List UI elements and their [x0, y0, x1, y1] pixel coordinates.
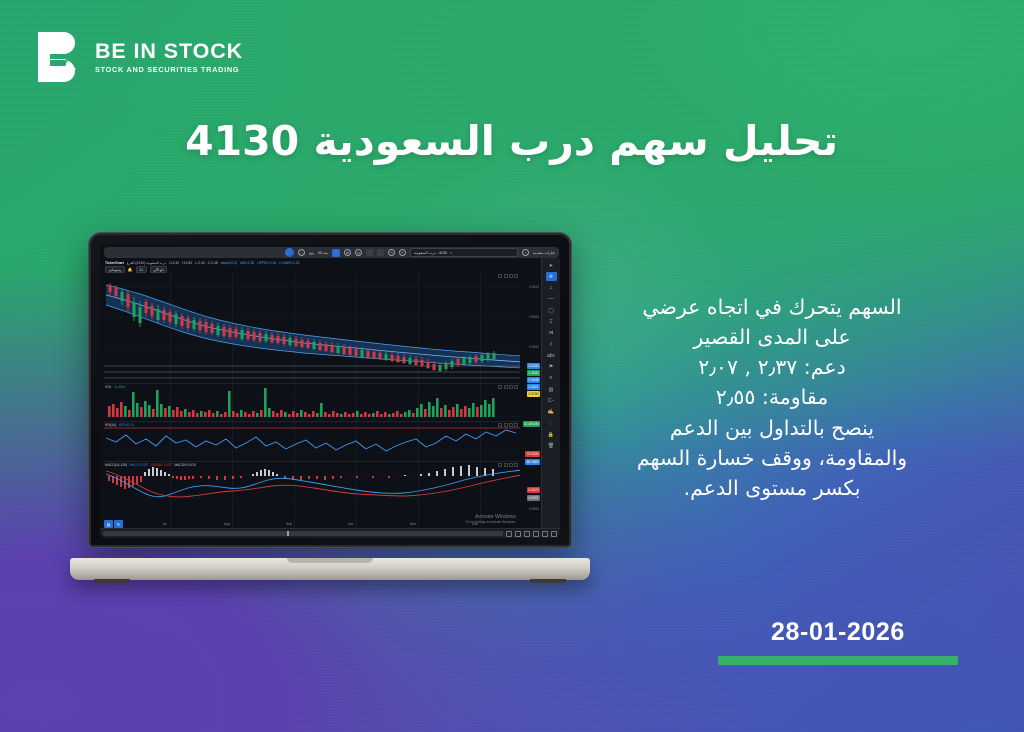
macd-pane-buttons[interactable] — [498, 463, 518, 467]
settings-icon[interactable]: ⚙ — [344, 249, 351, 256]
legend-chip-2[interactable]: رسوماتي — [105, 266, 125, 273]
magnifier-icon[interactable]: ⌕ — [450, 251, 452, 255]
legend-indicator: basis(20,2) — [221, 261, 238, 265]
magnet-icon[interactable]: C⁃ — [546, 397, 557, 406]
analysis-line-7: بكسر مستوى الدعم. — [572, 473, 972, 503]
brand-name: BE IN STOCK — [95, 41, 243, 63]
horizontal-line-icon[interactable]: — — [546, 295, 557, 304]
chart-legend-chips: داو لآلي 21 🔔 رسوماتي — [105, 266, 167, 273]
clock-icon[interactable]: ◔ — [522, 249, 529, 256]
macd-chart-svg — [104, 462, 524, 506]
date-underline — [718, 656, 958, 665]
drawing-tools-rail[interactable]: ➤ ✛ ⊥ — ◯ ⌶ ⋊ ⫽ abc ⚑ ≡ ▥ C⁃ ✍ ◌ 🔒 🗑 — [541, 258, 560, 528]
pane-button-remove[interactable] — [509, 385, 513, 389]
volume-chart-svg — [104, 384, 524, 420]
hide-drawings-icon[interactable]: ◌ — [546, 419, 557, 428]
publish-date: 28-01-2026 — [708, 618, 968, 647]
laptop-mockup: ⛶ يوم 90 يمة ⚙ ◷ ↷ ↶ ⌕ 4130 ، درب السعود… — [70, 232, 590, 580]
trading-chart-app: ⛶ يوم 90 يمة ⚙ ◷ ↷ ↶ ⌕ 4130 ، درب السعود… — [100, 244, 560, 538]
pane-button-remove[interactable] — [509, 423, 513, 427]
legend-source: TickerChart — [105, 261, 124, 265]
rsi-tag-overbought: 70.0000 — [525, 451, 540, 457]
laptop-foot-left — [94, 579, 130, 583]
macd-hist-value: MACDH 0.010 — [175, 463, 196, 467]
macd-pane[interactable]: MACD(24,129) MACD 0.027 SIGNAL 0.027 MAC… — [104, 461, 520, 528]
cursor-icon[interactable]: ➤ — [546, 261, 557, 270]
indicator-icon[interactable] — [332, 249, 340, 257]
toolbar-label-right-1[interactable]: 90 يمة — [318, 251, 328, 255]
macd-value: MACD 0.027 — [130, 463, 149, 467]
macd-pane-title: MACD(24,129) MACD 0.027 SIGNAL 0.027 MAC… — [105, 463, 196, 467]
date-block: 28-01-2026 — [708, 618, 968, 665]
analysis-support-line: دعم: ٢٫٣٧ , ٢٫٠٧ — [572, 352, 972, 382]
price-tag-lower: 2.2921 — [527, 384, 540, 390]
x-label-oct: Oct — [348, 522, 353, 526]
pane-button-more[interactable] — [514, 385, 518, 389]
axis-tick-0: 4.0000 — [529, 285, 539, 289]
fib-icon[interactable]: ⋊ — [546, 329, 557, 338]
analysis-line-6: والمقاومة، ووقف خسارة السهم — [572, 443, 972, 473]
chart-bottom-bar[interactable] — [100, 528, 560, 538]
analysis-line-2: على المدى القصير — [572, 322, 972, 352]
bell-icon[interactable]: 🔔 — [128, 267, 133, 272]
parallel-channel-icon[interactable]: ⫽ — [546, 340, 557, 349]
price-tag-mid: 2.3645 — [527, 377, 540, 383]
chart-toolbar[interactable]: ⛶ يوم 90 يمة ⚙ ◷ ↷ ↶ ⌕ 4130 ، درب السعود… — [104, 247, 559, 258]
legend-low: L:2.43 — [195, 261, 204, 265]
brand-tagline: STOCK AND SECURITIES TRADING — [95, 66, 243, 73]
laptop-foot-right — [530, 579, 566, 583]
windows-activation-watermark: Activate Windows Go to Settings to activ… — [466, 514, 516, 525]
legend-close: C:2.48 — [208, 261, 218, 265]
magnet-icon[interactable] — [533, 531, 539, 537]
symbol-search-value: 4130 ، درب السعودية — [414, 251, 447, 255]
trash-icon[interactable]: 🗑 — [546, 442, 557, 451]
toolbar-label-right-0[interactable]: يوم — [309, 251, 314, 255]
trend-line-icon[interactable]: ⊥ — [546, 284, 557, 293]
pattern-icon[interactable]: ≡ — [546, 374, 557, 383]
pane-button-hide[interactable] — [504, 385, 508, 389]
price-tag-resistance: 2.5200 — [527, 363, 540, 369]
symbol-search-input[interactable]: ⌕ 4130 ، درب السعودية — [410, 248, 518, 257]
zoom-in-icon[interactable] — [551, 531, 557, 537]
axis-tick-1: 3.5000 — [529, 315, 539, 319]
x-label-jul: Jul — [162, 522, 166, 526]
x-label-sep: Sep — [286, 522, 292, 526]
compare-icon[interactable] — [366, 249, 373, 256]
legend-high: H:2.50 — [182, 261, 192, 265]
layout-icon[interactable] — [377, 249, 384, 256]
chart-legend: TickerChart درب السعودية (4130) الفرع O:… — [105, 259, 532, 266]
advanced-options-label[interactable]: خيارات متقدمة — [533, 251, 555, 255]
rsi-value: RSI 60.19 — [119, 423, 134, 427]
rsi-pane-title: RSI(14) RSI 60.19 — [105, 423, 134, 427]
x-label-nov: Nov — [410, 522, 416, 526]
brush-icon[interactable]: ✍ — [546, 408, 557, 417]
timeline-scrollbar[interactable] — [103, 531, 503, 536]
chart-panes: VOL 11.45M — [100, 273, 560, 528]
axis-tick-2: 3.0000 — [529, 345, 539, 349]
legend-symbol: درب السعودية (4130) الفرع — [127, 261, 166, 265]
analysis-resistance-line: مقاومة: ٢٫٥٥ — [572, 382, 972, 412]
macd-tag-signal: 0.0097 — [527, 495, 540, 501]
measure-icon[interactable]: ⌶ — [546, 317, 557, 326]
snapshot-icon[interactable] — [515, 531, 521, 537]
laptop-base-notch — [287, 558, 373, 563]
laptop-base — [70, 558, 590, 580]
flag-icon[interactable]: ⚑ — [546, 363, 557, 372]
legend-chip-0[interactable]: داو لآلي — [150, 266, 168, 273]
analysis-line-1: السهم يتحرك في اتجاه عرضي — [572, 292, 972, 322]
lock-icon[interactable]: 🔒 — [546, 430, 557, 439]
zoom-out-icon[interactable] — [542, 531, 548, 537]
rsi-label: RSI(14) — [105, 423, 116, 427]
brand-logo-text: BE IN STOCK STOCK AND SECURITIES TRADING — [95, 37, 243, 73]
fullscreen-icon[interactable]: ⛶ — [298, 249, 305, 256]
pane-button-remove[interactable] — [509, 274, 513, 278]
rsi-pane-buttons[interactable] — [498, 423, 518, 427]
rsi-pane[interactable]: RSI(14) RSI 60.19 — [104, 421, 520, 459]
brand-logo: BE IN STOCK STOCK AND SECURITIES TRADING — [30, 28, 243, 82]
macd-axis-tick-0: 0.0000 — [529, 507, 539, 511]
macd-tag-value: 0.0270 — [527, 487, 540, 493]
legend-upper: UPPER:2.51 — [257, 261, 276, 265]
legend-chip-1[interactable]: 21 — [136, 266, 147, 273]
calendar-icon[interactable] — [506, 531, 512, 537]
rsi-tag-value: 60.1960 — [525, 459, 540, 465]
macd-label: MACD(24,129) — [105, 463, 127, 467]
expand-icon[interactable] — [524, 531, 530, 537]
x-label-aug: Aug — [224, 522, 230, 526]
pane-button-hide[interactable] — [504, 463, 508, 467]
legend-lower: LOWER:2.25 — [279, 261, 299, 265]
pane-button-more[interactable] — [514, 423, 518, 427]
price-tag-last: 2.4800 — [527, 370, 540, 376]
price-pane-buttons[interactable] — [498, 274, 518, 278]
price-tag-support: 2.0700 — [527, 391, 540, 397]
analysis-line-5: ينصح بالتداول بين الدعم — [572, 413, 972, 443]
pane-button-hide[interactable] — [504, 423, 508, 427]
watermark-subtitle: Go to Settings to activate Windows. — [466, 520, 516, 524]
price-pane[interactable] — [104, 273, 520, 381]
macd-signal-value: SIGNAL 0.027 — [151, 463, 172, 467]
rsi-chart-svg — [104, 422, 524, 460]
laptop-lid: ⛶ يوم 90 يمة ⚙ ◷ ↷ ↶ ⌕ 4130 ، درب السعود… — [88, 232, 572, 548]
volume-pane[interactable]: VOL 11.45M — [104, 383, 520, 419]
text-icon[interactable]: abc — [546, 351, 557, 360]
time-axis-labels: Jul Aug Sep Oct Nov Dec — [104, 522, 520, 528]
undo-icon[interactable]: ↶ — [399, 249, 406, 256]
pane-button-remove[interactable] — [509, 463, 513, 467]
price-axis[interactable]: 4.0000 3.5000 3.0000 2.5200 2.4800 2.364… — [520, 273, 540, 528]
pane-button-settings[interactable] — [498, 385, 502, 389]
pen-icon[interactable] — [285, 248, 294, 257]
price-chart-svg — [104, 273, 524, 381]
pane-button-settings[interactable] — [498, 274, 502, 278]
pane-button-more[interactable] — [514, 274, 518, 278]
volume-value: 11.45M — [114, 385, 125, 389]
volume-pane-title: VOL 11.45M — [105, 385, 125, 389]
volume-pane-buttons[interactable] — [498, 385, 518, 389]
timer-icon[interactable]: ◷ — [355, 249, 362, 256]
bars-pattern-icon[interactable]: ▥ — [546, 385, 557, 394]
timeline-thumb[interactable] — [287, 531, 289, 536]
pane-button-hide[interactable] — [504, 274, 508, 278]
volume-label: VOL — [105, 385, 112, 389]
page-title: تحليل سهم درب السعودية 4130 — [178, 116, 838, 166]
b-arrows-logo-icon — [30, 28, 82, 82]
redo-icon[interactable]: ↷ — [388, 249, 395, 256]
legend-mid: MID:2.38 — [240, 261, 254, 265]
crosshair-icon[interactable]: ✛ — [546, 272, 557, 281]
pane-button-settings[interactable] — [498, 423, 502, 427]
legend-open: O:2.42 — [169, 261, 179, 265]
volume-tag: 11.4542M — [523, 421, 540, 427]
laptop-screen: ⛶ يوم 90 يمة ⚙ ◷ ↷ ↶ ⌕ 4130 ، درب السعود… — [100, 244, 560, 538]
analysis-text: السهم يتحرك في اتجاه عرضي على المدى القص… — [572, 292, 972, 503]
ellipse-icon[interactable]: ◯ — [546, 306, 557, 315]
pane-button-more[interactable] — [514, 463, 518, 467]
pane-button-settings[interactable] — [498, 463, 502, 467]
